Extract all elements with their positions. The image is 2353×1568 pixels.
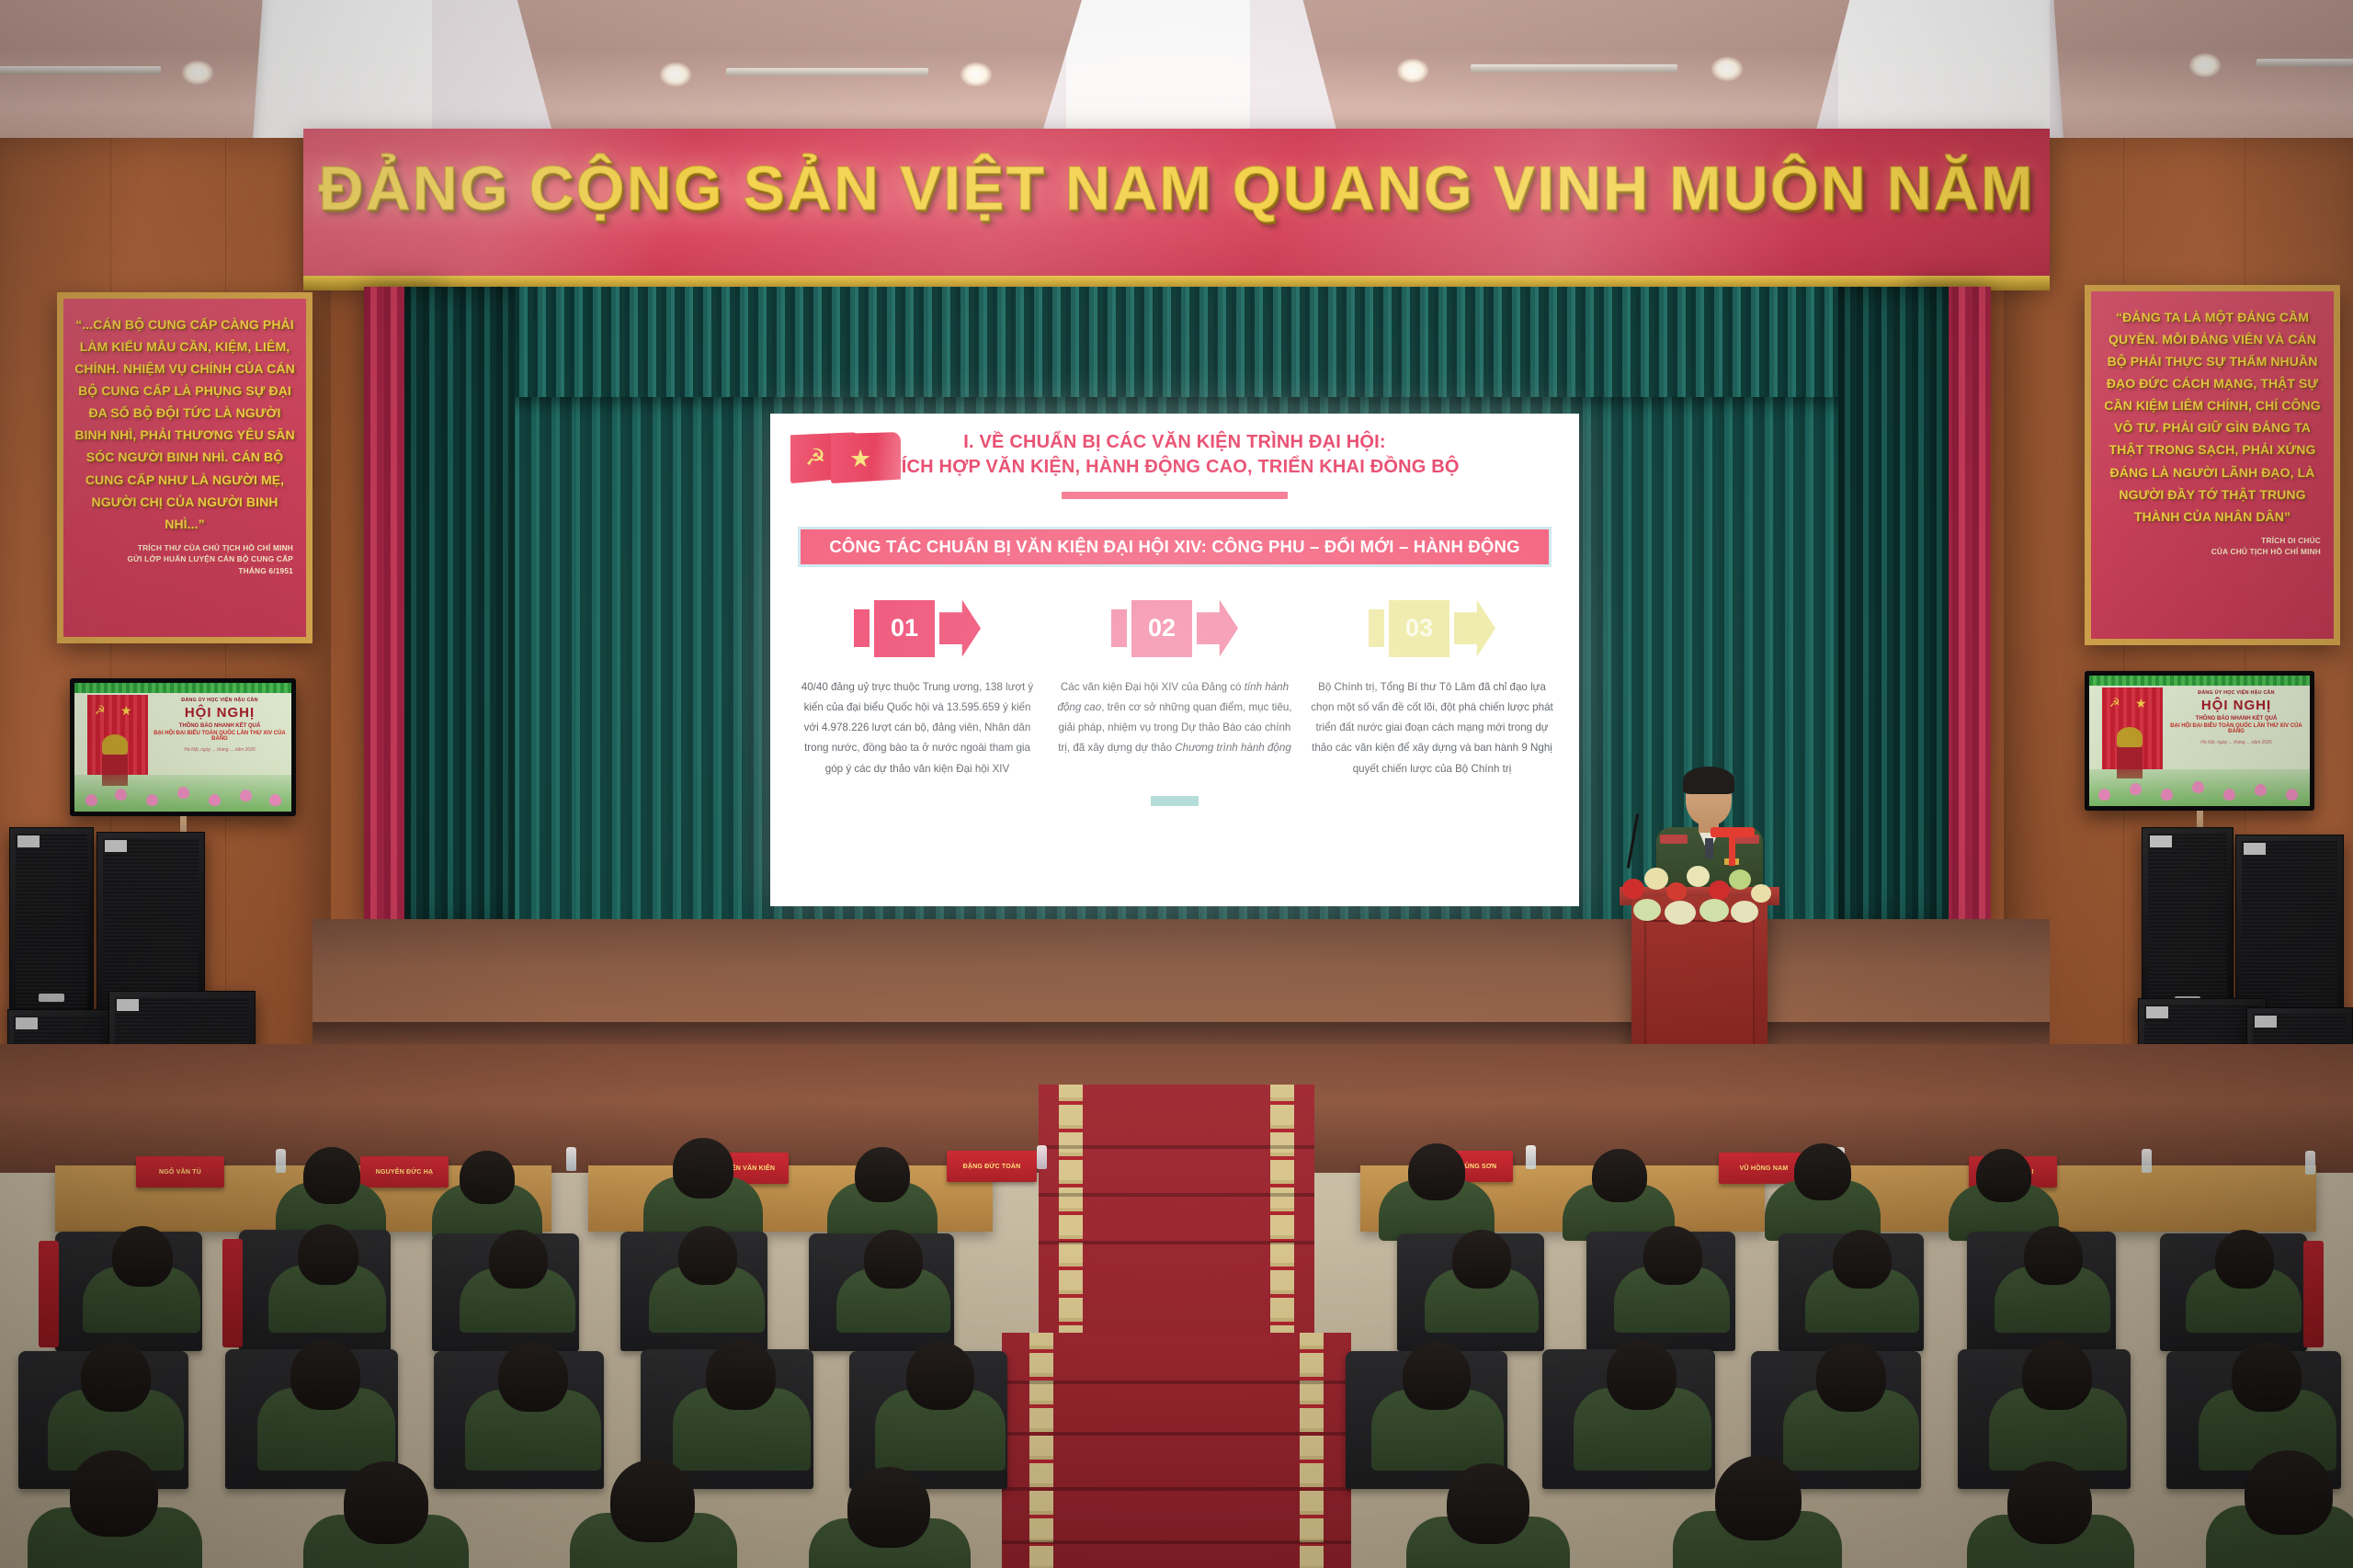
podium-front-panel bbox=[1644, 920, 1755, 1063]
attendee-head bbox=[906, 1342, 974, 1410]
curtain-right-leg bbox=[1838, 287, 1949, 930]
monitor-text-block: ĐẢNG ỦY HỌC VIỆN HẬU CẦN HỘI NGHỊ THÔNG … bbox=[2168, 690, 2304, 745]
water-bottle bbox=[2305, 1151, 2315, 1175]
attendee-head bbox=[2232, 1342, 2302, 1412]
step-marker-03: 03 bbox=[1311, 600, 1553, 657]
step-number: 02 bbox=[1131, 600, 1192, 657]
attendee-head bbox=[678, 1226, 737, 1285]
slide-column-3: 03 Bộ Chính trị, Tổng Bí thư Tô Lâm đã c… bbox=[1311, 600, 1553, 779]
ceiling-light-slot bbox=[726, 68, 928, 76]
attendee-head bbox=[298, 1224, 358, 1285]
attendee-head bbox=[303, 1147, 360, 1204]
ceiling-beam bbox=[0, 0, 263, 156]
quote-left-source: TRÍCH THƯ CỦA CHỦ TỊCH HỒ CHÍ MINH GỬI L… bbox=[73, 542, 297, 576]
attendee-head bbox=[290, 1340, 360, 1410]
presentation-slide: ☭ ★ I. VỀ CHUẨN BỊ CÁC VĂN KIỆN TRÌNH ĐẠ… bbox=[770, 414, 1579, 906]
hammer-sickle-icon: ☭ bbox=[95, 703, 106, 718]
water-bottle bbox=[276, 1149, 286, 1173]
step-number: 01 bbox=[874, 600, 935, 657]
attendee-head bbox=[1452, 1230, 1511, 1289]
water-bottle bbox=[1526, 1145, 1536, 1169]
water-bottle bbox=[2142, 1149, 2152, 1173]
yellow-star-icon: ★ bbox=[120, 703, 132, 719]
stage-edge bbox=[313, 1022, 2050, 1044]
attendee-head bbox=[673, 1138, 733, 1199]
attendee-head bbox=[489, 1230, 548, 1289]
step-marker-01: 01 bbox=[796, 600, 1039, 657]
step-number: 03 bbox=[1389, 600, 1449, 657]
arrow-right-icon bbox=[939, 600, 981, 657]
pa-speaker bbox=[9, 827, 94, 1016]
seat-side-panel bbox=[2303, 1241, 2324, 1347]
attendee-head bbox=[1715, 1456, 1802, 1540]
hall-headline-banner: ĐẢNG CỘNG SẢN VIỆT NAM QUANG VINH MUÔN N… bbox=[303, 129, 2050, 285]
water-bottle bbox=[566, 1147, 576, 1171]
slide-column-1-body: 40/40 đảng uỷ trực thuộc Trung ương, 138… bbox=[796, 677, 1039, 779]
monitor-lotus-band bbox=[2089, 769, 2310, 806]
attendee-head bbox=[1447, 1463, 1529, 1544]
ceiling-light-slot bbox=[1471, 64, 1677, 73]
attendee-head bbox=[847, 1467, 930, 1548]
monitor-top-band bbox=[74, 683, 291, 693]
downlight-icon bbox=[1397, 59, 1428, 83]
pa-speaker bbox=[2142, 827, 2234, 1018]
ceiling-light-slot bbox=[0, 66, 161, 74]
attendee-head bbox=[1816, 1342, 1886, 1412]
downlight-icon bbox=[660, 62, 691, 86]
downlight-icon bbox=[961, 62, 992, 86]
attendee-head bbox=[1976, 1149, 2031, 1202]
attendee-head bbox=[81, 1342, 151, 1412]
attendee-head bbox=[1607, 1340, 1677, 1410]
arrow-right-icon bbox=[1197, 600, 1238, 657]
slide-column-3-body: Bộ Chính trị, Tổng Bí thư Tô Lâm đã chỉ … bbox=[1311, 677, 1553, 779]
floral-arrangement bbox=[1613, 855, 1793, 926]
projection-screen: ☭ ★ I. VỀ CHUẨN BỊ CÁC VĂN KIỆN TRÌNH ĐẠ… bbox=[770, 414, 1579, 906]
hammer-sickle-icon: ☭ bbox=[2109, 696, 2120, 710]
slide-title-line-2: TÍCH HỢP VĂN KIỆN, HÀNH ĐỘNG CAO, TRIỂN … bbox=[790, 455, 1559, 480]
attendee-head bbox=[864, 1230, 923, 1289]
attendee-head bbox=[70, 1450, 158, 1537]
slide-footer-mark bbox=[1151, 796, 1199, 806]
slide-title: I. VỀ CHUẨN BỊ CÁC VĂN KIỆN TRÌNH ĐẠI HỘ… bbox=[790, 430, 1559, 480]
slide-columns: 01 40/40 đảng uỷ trực thuộc Trung ương, … bbox=[790, 600, 1559, 779]
conference-hall-photo: ĐẢNG CỘNG SẢN VIỆT NAM QUANG VINH MUÔN N… bbox=[0, 0, 2353, 1568]
ho-chi-minh-bust-icon bbox=[2117, 727, 2143, 747]
side-monitor-right: ☭ ★ ĐẢNG ỦY HỌC VIỆN HẬU CẦN HỘI NGHỊ TH… bbox=[2085, 671, 2314, 811]
ho-chi-minh-bust-icon bbox=[102, 734, 128, 755]
monitor-screen: ☭ ★ ĐẢNG ỦY HỌC VIỆN HẬU CẦN HỘI NGHỊ TH… bbox=[74, 683, 291, 812]
water-bottle bbox=[1037, 1145, 1047, 1169]
downlight-icon bbox=[1711, 57, 1743, 81]
slide-title-line-1: I. VỀ CHUẨN BỊ CÁC VĂN KIỆN TRÌNH ĐẠI HỘ… bbox=[790, 430, 1559, 455]
curtain-left-leg bbox=[404, 287, 515, 930]
attendee-head bbox=[855, 1147, 910, 1202]
yellow-star-icon: ★ bbox=[849, 447, 871, 472]
banner-headline-text: ĐẢNG CỘNG SẢN VIỆT NAM QUANG VINH MUÔN N… bbox=[303, 153, 2050, 224]
hammer-sickle-icon: ☭ bbox=[805, 447, 829, 471]
slide-column-2: 02 Các văn kiện Đại hội XIV của Đảng có … bbox=[1053, 600, 1296, 779]
quote-right-text: “ĐẢNG TA LÀ MỘT ĐẢNG CẦM QUYỀN. MỖI ĐẢNG… bbox=[2100, 306, 2325, 528]
attendee-head bbox=[610, 1460, 695, 1542]
monitor-lotus-band bbox=[74, 775, 291, 812]
monitor-top-band bbox=[2089, 676, 2310, 686]
monitor-text-block: ĐẢNG ỦY HỌC VIỆN HẬU CẦN HỘI NGHỊ THÔNG … bbox=[153, 698, 286, 753]
epaulette-left bbox=[1660, 835, 1688, 844]
slide-title-underline bbox=[1062, 492, 1288, 499]
attendee-head bbox=[2007, 1461, 2092, 1544]
name-placard: ĐẶNG ĐỨC TOÀN bbox=[947, 1151, 1037, 1182]
downlight-icon bbox=[2189, 53, 2221, 77]
quote-board-left: “...CÁN BỘ CUNG CẤP CÀNG PHẢI LÀM KIỂU M… bbox=[57, 292, 313, 643]
attendee-head bbox=[460, 1151, 515, 1204]
attendee-head bbox=[706, 1340, 776, 1410]
curtain-valance bbox=[404, 287, 1949, 397]
step-marker-02: 02 bbox=[1053, 600, 1296, 657]
attendee-head bbox=[1794, 1143, 1851, 1200]
monitor-screen: ☭ ★ ĐẢNG ỦY HỌC VIỆN HẬU CẦN HỘI NGHỊ TH… bbox=[2089, 676, 2310, 806]
attendee-head bbox=[1643, 1226, 1702, 1285]
slide-ribbon-banner: CÔNG TÁC CHUẨN BỊ VĂN KIỆN ĐẠI HỘI XIV: … bbox=[798, 527, 1551, 567]
speaker-hair bbox=[1683, 767, 1734, 794]
quote-board-right: “ĐẢNG TA LÀ MỘT ĐẢNG CẦM QUYỀN. MỖI ĐẢNG… bbox=[2085, 285, 2340, 645]
yellow-star-icon: ★ bbox=[2135, 696, 2147, 711]
attendee-head bbox=[112, 1226, 173, 1287]
name-placard: NGÔ VĂN TÙ bbox=[136, 1156, 224, 1187]
attendee-head bbox=[2024, 1226, 2083, 1285]
attendee-head bbox=[1403, 1342, 1471, 1410]
attendee-head bbox=[1592, 1149, 1647, 1202]
attendee-head bbox=[344, 1461, 428, 1544]
step-tab bbox=[1111, 609, 1127, 647]
ceiling-light-slot bbox=[2256, 59, 2353, 67]
ceiling-beam bbox=[2053, 0, 2353, 156]
quote-right-source: TRÍCH DI CHÚC CỦA CHỦ TỊCH HỒ CHÍ MINH bbox=[2100, 535, 2325, 558]
step-tab bbox=[854, 609, 870, 647]
seat-side-panel bbox=[39, 1241, 59, 1347]
attendee-head bbox=[2245, 1450, 2333, 1535]
arrow-right-icon bbox=[1454, 600, 1495, 657]
name-placard: NGUYỄN ĐỨC HẠ bbox=[360, 1156, 449, 1187]
side-monitor-left: ☭ ★ ĐẢNG ỦY HỌC VIỆN HẬU CẦN HỘI NGHỊ TH… bbox=[70, 678, 296, 816]
red-carpet-steps bbox=[1002, 1333, 1351, 1568]
seat-side-panel bbox=[222, 1239, 243, 1347]
slide-column-1: 01 40/40 đảng uỷ trực thuộc Trung ương, … bbox=[796, 600, 1039, 779]
quote-left-text: “...CÁN BỘ CUNG CẤP CÀNG PHẢI LÀM KIỂU M… bbox=[73, 313, 297, 535]
attendee-head bbox=[1833, 1230, 1892, 1289]
attendee-head bbox=[2215, 1230, 2274, 1289]
slide-flags: ☭ ★ bbox=[790, 428, 901, 496]
step-tab bbox=[1369, 609, 1384, 647]
slide-column-2-body: Các văn kiện Đại hội XIV của Đảng có tín… bbox=[1053, 677, 1296, 759]
attendee-head bbox=[1408, 1143, 1465, 1200]
downlight-icon bbox=[182, 61, 213, 85]
attendee-head bbox=[498, 1342, 568, 1412]
attendee-head bbox=[2022, 1340, 2092, 1410]
